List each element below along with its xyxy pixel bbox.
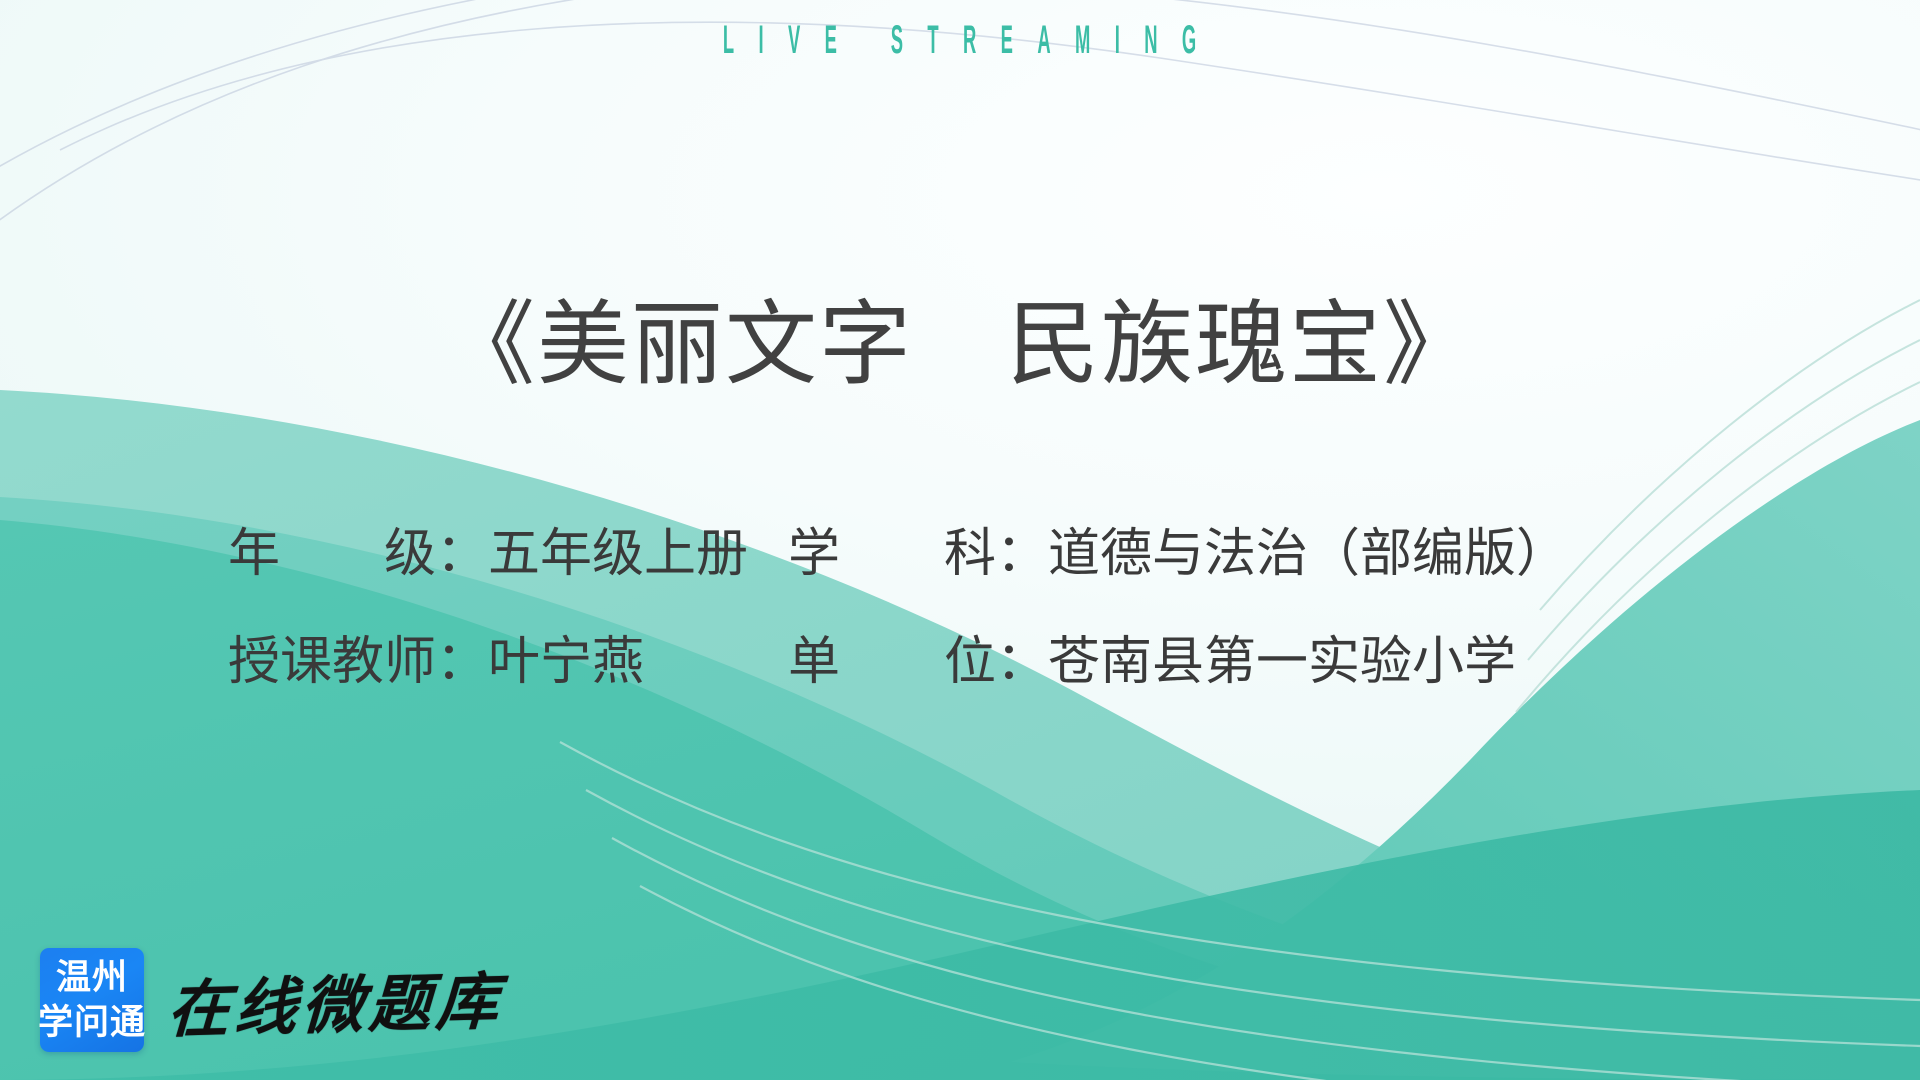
live-streaming-banner: LIVE STREAMING xyxy=(0,18,1920,62)
brand-footer: 温州 学问通 在线微题库 xyxy=(40,948,503,1052)
wenzhou-logo: 温州 学问通 xyxy=(40,948,144,1052)
slide-root: LIVE STREAMING 《美丽文字 民族瑰宝》 年 级：五年级上册 学 科… xyxy=(0,0,1920,1080)
logo-line-1: 温州 xyxy=(56,955,128,1000)
info-row-teacher-school: 授课教师：叶宁燕 单 位：苍南县第一实验小学 xyxy=(0,608,1920,716)
live-streaming-label: LIVE STREAMING xyxy=(699,18,1221,62)
page-title: 《美丽文字 民族瑰宝》 xyxy=(0,294,1920,397)
info-teacher: 授课教师：叶宁燕 xyxy=(228,608,788,716)
course-info-block: 年 级：五年级上册 学 科：道德与法治（部编版） 授课教师：叶宁燕 单 位：苍南… xyxy=(0,500,1920,716)
info-row-grade-subject: 年 级：五年级上册 学 科：道德与法治（部编版） xyxy=(0,500,1920,608)
info-grade: 年 级：五年级上册 xyxy=(228,500,788,608)
info-subject: 学 科：道德与法治（部编版） xyxy=(788,500,1568,608)
logo-line-2: 学问通 xyxy=(38,1000,146,1045)
arc-lines-lower-right xyxy=(560,742,1920,1080)
info-school: 单 位：苍南县第一实验小学 xyxy=(788,608,1516,716)
brand-script-text: 在线微题库 xyxy=(166,951,505,1050)
